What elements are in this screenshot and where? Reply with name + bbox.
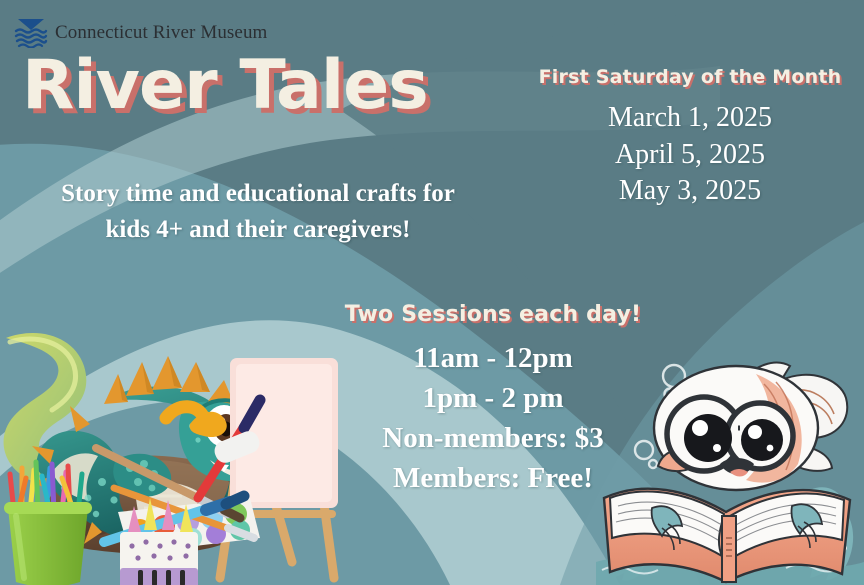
museum-logo-row: Connecticut River Museum — [14, 18, 267, 48]
fish-reading-illustration — [596, 352, 864, 585]
schedule-block: First Saturday of the Month March 1, 202… — [530, 66, 850, 210]
poster-title: River Tales — [22, 52, 428, 120]
schedule-date: April 5, 2025 — [530, 137, 850, 174]
organization-name: Connecticut River Museum — [55, 22, 267, 44]
river-waves-logo-icon — [14, 18, 48, 48]
sea-dragon-illustration — [0, 300, 382, 585]
description-block: Story time and educational crafts for ki… — [28, 176, 488, 247]
schedule-date: May 3, 2025 — [530, 173, 850, 210]
schedule-heading: First Saturday of the Month — [530, 66, 850, 88]
description-line-1: Story time and educational crafts for — [28, 176, 488, 212]
description-line-2: kids 4+ and their caregivers! — [28, 212, 488, 248]
schedule-date: March 1, 2025 — [530, 100, 850, 137]
poster-canvas: Connecticut River Museum River Tales Sto… — [0, 0, 864, 585]
